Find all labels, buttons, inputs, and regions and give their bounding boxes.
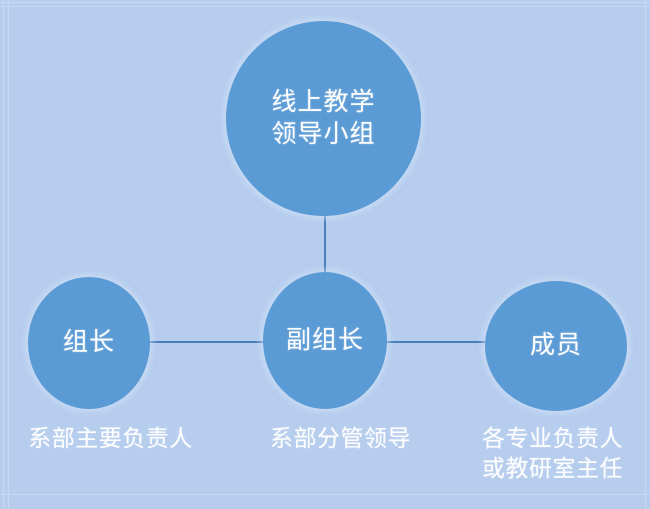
connector-root-to-deputy [324,212,326,280]
caption-row: 系部主要负责人 系部分管领导 各专业负责人 或教研室主任 [0,424,650,494]
node-members[interactable]: 成员 [485,281,627,411]
node-deputy-group-leader[interactable]: 副组长 [263,272,387,409]
slide-canvas: 线上教学 领导小组 组长 副组长 成员 系部主要负责人 系部分管领导 各专业负责… [0,0,650,509]
node-group-leader[interactable]: 组长 [28,277,150,409]
frame-line-bottom [0,494,650,495]
node-label-leader: 组长 [63,327,115,358]
frame-line-top [0,2,650,3]
caption-members: 各专业负责人 或教研室主任 [460,424,645,484]
node-label-member: 成员 [530,330,582,361]
connector-leader-to-deputy [146,341,268,343]
caption-group-leader: 系部主要负责人 [8,424,213,454]
caption-deputy-group-leader: 系部分管领导 [243,424,438,454]
connector-deputy-to-member [382,341,490,343]
node-online-teaching-leadership-group[interactable]: 线上教学 领导小组 [226,21,421,216]
node-label-deputy: 副组长 [286,325,364,356]
frame-line-top-secondary [0,6,650,7]
node-label-root: 线上教学 领导小组 [271,87,375,150]
